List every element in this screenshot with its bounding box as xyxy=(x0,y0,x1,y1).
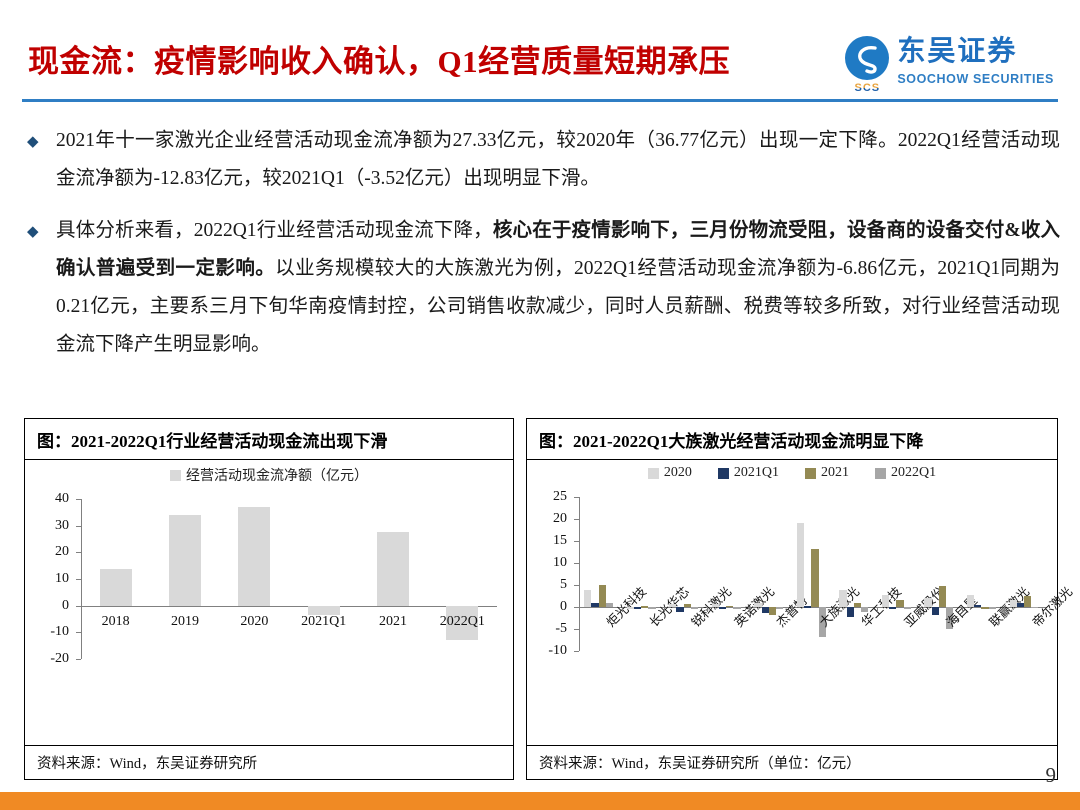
y-axis-tick-label: 20 xyxy=(25,544,69,560)
bar xyxy=(981,607,988,609)
x-axis-tick xyxy=(579,607,580,612)
x-axis-tick-label: 2022Q1 xyxy=(428,614,497,630)
bar xyxy=(100,569,132,605)
x-axis-tick xyxy=(834,607,835,612)
chart-plot-industry: -20-100102030402018201920202021Q12021202… xyxy=(25,489,513,747)
y-axis-line xyxy=(81,499,82,659)
chart-panel-company: 图：2021-2022Q1大族激光经营活动现金流明显下降 20202021Q12… xyxy=(526,418,1058,780)
y-axis-tick xyxy=(574,563,579,564)
legend-item: 经营活动现金流净额（亿元） xyxy=(170,465,368,485)
y-axis-tick xyxy=(76,632,81,633)
y-axis-tick xyxy=(574,497,579,498)
bar xyxy=(169,515,201,606)
bar xyxy=(238,507,270,606)
y-axis-tick xyxy=(76,579,81,580)
bar xyxy=(726,606,733,608)
y-axis-tick-label: -5 xyxy=(527,621,567,637)
y-axis-tick xyxy=(76,659,81,660)
bar xyxy=(932,607,939,615)
zero-line xyxy=(81,606,497,607)
bar xyxy=(754,603,761,607)
y-axis-tick-label: 0 xyxy=(25,598,69,614)
bar xyxy=(889,607,896,609)
bar xyxy=(896,600,903,607)
body-text: ◆ 2021年十一家激光企业经营活动现金流净额为27.33亿元，较2020年（3… xyxy=(24,122,1060,378)
x-axis-tick xyxy=(1004,607,1005,612)
logo-scs-text: SCS xyxy=(845,82,889,94)
bar xyxy=(967,595,974,607)
bar xyxy=(811,549,818,607)
x-axis-tick xyxy=(919,607,920,612)
logo-mark-icon: SCS xyxy=(845,36,889,80)
y-axis-tick-label: 10 xyxy=(527,555,567,571)
legend-label: 经营活动现金流净额（亿元） xyxy=(186,465,368,485)
bar xyxy=(712,604,719,607)
x-axis-tick-label: 2021 xyxy=(358,614,427,630)
bullet-icon: ◆ xyxy=(27,123,39,161)
legend-swatch-icon xyxy=(648,468,659,479)
legend-item: 2021 xyxy=(805,465,849,481)
chart-panel-industry: 图：2021-2022Q1行业经营活动现金流出现下滑 经营活动现金流净额（亿元）… xyxy=(24,418,514,780)
bar xyxy=(974,605,981,607)
chart-plot-company: -10-50510152025炬光科技长光华芯锐科激光英诺激光杰普特大族激光华工… xyxy=(527,489,1057,747)
legend-label: 2020 xyxy=(664,465,692,481)
paragraph-2: ◆ 具体分析来看，2022Q1行业经营活动现金流下降，核心在于疫情影响下，三月份… xyxy=(24,212,1060,364)
bar xyxy=(839,590,846,607)
bar xyxy=(1024,596,1031,607)
y-axis-tick xyxy=(574,585,579,586)
company-logo: SCS 东吴证券 SOOCHOW SECURITIES xyxy=(845,36,1054,86)
bar xyxy=(684,604,691,607)
plain-text: 2021年十一家激光企业经营活动现金流净额为27.33亿元，较2020年（36.… xyxy=(56,130,1060,189)
legend-swatch-icon xyxy=(170,470,181,481)
bar xyxy=(719,607,726,609)
y-axis-line xyxy=(579,497,580,651)
page-title: 现金流：疫情影响收入确认，Q1经营质量短期承压 xyxy=(28,36,730,81)
bar xyxy=(634,607,641,609)
bar xyxy=(762,607,769,613)
bar xyxy=(882,595,889,607)
legend-swatch-icon xyxy=(718,468,729,479)
y-axis-tick xyxy=(574,541,579,542)
bar xyxy=(377,532,409,606)
x-axis-tick-label: 2020 xyxy=(220,614,289,630)
y-axis-tick-label: -10 xyxy=(25,624,69,640)
x-axis-tick xyxy=(962,607,963,612)
bar xyxy=(591,603,598,607)
chart-title-company: 图：2021-2022Q1大族激光经营活动现金流明显下降 xyxy=(527,419,1057,460)
paragraph-2-text: 具体分析来看，2022Q1行业经营活动现金流下降，核心在于疫情影响下，三月份物流… xyxy=(56,220,1060,355)
chart-legend-company: 20202021Q120212022Q1 xyxy=(527,459,1057,481)
x-axis-tick-label: 2019 xyxy=(150,614,219,630)
plain-text: 具体分析来看，2022Q1行业经营活动现金流下降， xyxy=(56,220,493,241)
bar xyxy=(669,604,676,607)
footer-bar xyxy=(0,792,1080,810)
y-axis-tick-label: 30 xyxy=(25,518,69,534)
bar xyxy=(584,590,591,607)
x-axis-tick xyxy=(749,607,750,612)
chart-source-company: 资料来源：Wind，东吴证券研究所（单位：亿元） xyxy=(527,745,1057,779)
swirl-icon xyxy=(845,36,889,80)
chart-title-industry: 图：2021-2022Q1行业经营活动现金流出现下滑 xyxy=(25,419,513,460)
legend-label: 2022Q1 xyxy=(891,465,936,481)
bar xyxy=(1017,603,1024,607)
logo-english-name: SOOCHOW SECURITIES xyxy=(897,72,1054,86)
y-axis-tick-label: 40 xyxy=(25,491,69,507)
y-axis-tick-label: -10 xyxy=(527,643,567,659)
x-axis-tick xyxy=(622,607,623,612)
y-axis-tick xyxy=(574,651,579,652)
bar xyxy=(939,586,946,607)
x-axis-tick-label: 2018 xyxy=(81,614,150,630)
x-axis-tick xyxy=(792,607,793,612)
x-axis-tick-label: 2021Q1 xyxy=(289,614,358,630)
chart-area-industry: 经营活动现金流净额（亿元） -20-1001020304020182019202… xyxy=(25,459,513,747)
y-axis-tick-label: 5 xyxy=(527,577,567,593)
chart-area-company: 20202021Q120212022Q1 -10-50510152025炬光科技… xyxy=(527,459,1057,747)
header-divider xyxy=(22,99,1058,102)
y-axis-tick-label: 15 xyxy=(527,533,567,549)
bar xyxy=(797,523,804,607)
y-axis-tick-label: 0 xyxy=(527,599,567,615)
bar xyxy=(854,603,861,607)
y-axis-tick-label: 10 xyxy=(25,571,69,587)
legend-label: 2021 xyxy=(821,465,849,481)
y-axis-tick xyxy=(574,629,579,630)
bar xyxy=(804,606,811,608)
bar xyxy=(676,607,683,612)
bullet-icon: ◆ xyxy=(27,213,39,251)
x-axis-tick xyxy=(664,607,665,612)
bar xyxy=(924,598,931,607)
bar xyxy=(847,607,854,617)
y-axis-tick xyxy=(76,606,81,607)
paragraph-1: ◆ 2021年十一家激光企业经营活动现金流净额为27.33亿元，较2020年（3… xyxy=(24,122,1060,198)
page-number: 9 xyxy=(1046,763,1057,788)
y-axis-tick xyxy=(76,499,81,500)
chart-legend-industry: 经营活动现金流净额（亿元） xyxy=(25,459,513,485)
bar xyxy=(599,585,606,607)
y-axis-tick-label: 25 xyxy=(527,489,567,505)
y-axis-tick xyxy=(574,519,579,520)
y-axis-tick xyxy=(76,552,81,553)
paragraph-1-text: 2021年十一家激光企业经营活动现金流净额为27.33亿元，较2020年（36.… xyxy=(56,130,1060,189)
bar xyxy=(641,606,648,608)
x-axis-tick xyxy=(877,607,878,612)
legend-swatch-icon xyxy=(875,468,886,479)
x-axis-tick xyxy=(707,607,708,612)
chart-source-industry: 资料来源：Wind，东吴证券研究所 xyxy=(25,745,513,779)
y-axis-tick xyxy=(76,526,81,527)
y-axis-tick-label: 20 xyxy=(527,511,567,527)
legend-swatch-icon xyxy=(805,468,816,479)
bar xyxy=(627,607,634,609)
slide-header: 现金流：疫情影响收入确认，Q1经营质量短期承压 SCS 东吴证券 SOOCHOW… xyxy=(0,0,1080,100)
y-axis-tick-label: -20 xyxy=(25,651,69,667)
legend-item: 2022Q1 xyxy=(875,465,936,481)
bar xyxy=(1010,600,1017,607)
logo-chinese-name: 东吴证券 xyxy=(897,38,1054,66)
legend-item: 2021Q1 xyxy=(718,465,779,481)
legend-item: 2020 xyxy=(648,465,692,481)
legend-label: 2021Q1 xyxy=(734,465,779,481)
